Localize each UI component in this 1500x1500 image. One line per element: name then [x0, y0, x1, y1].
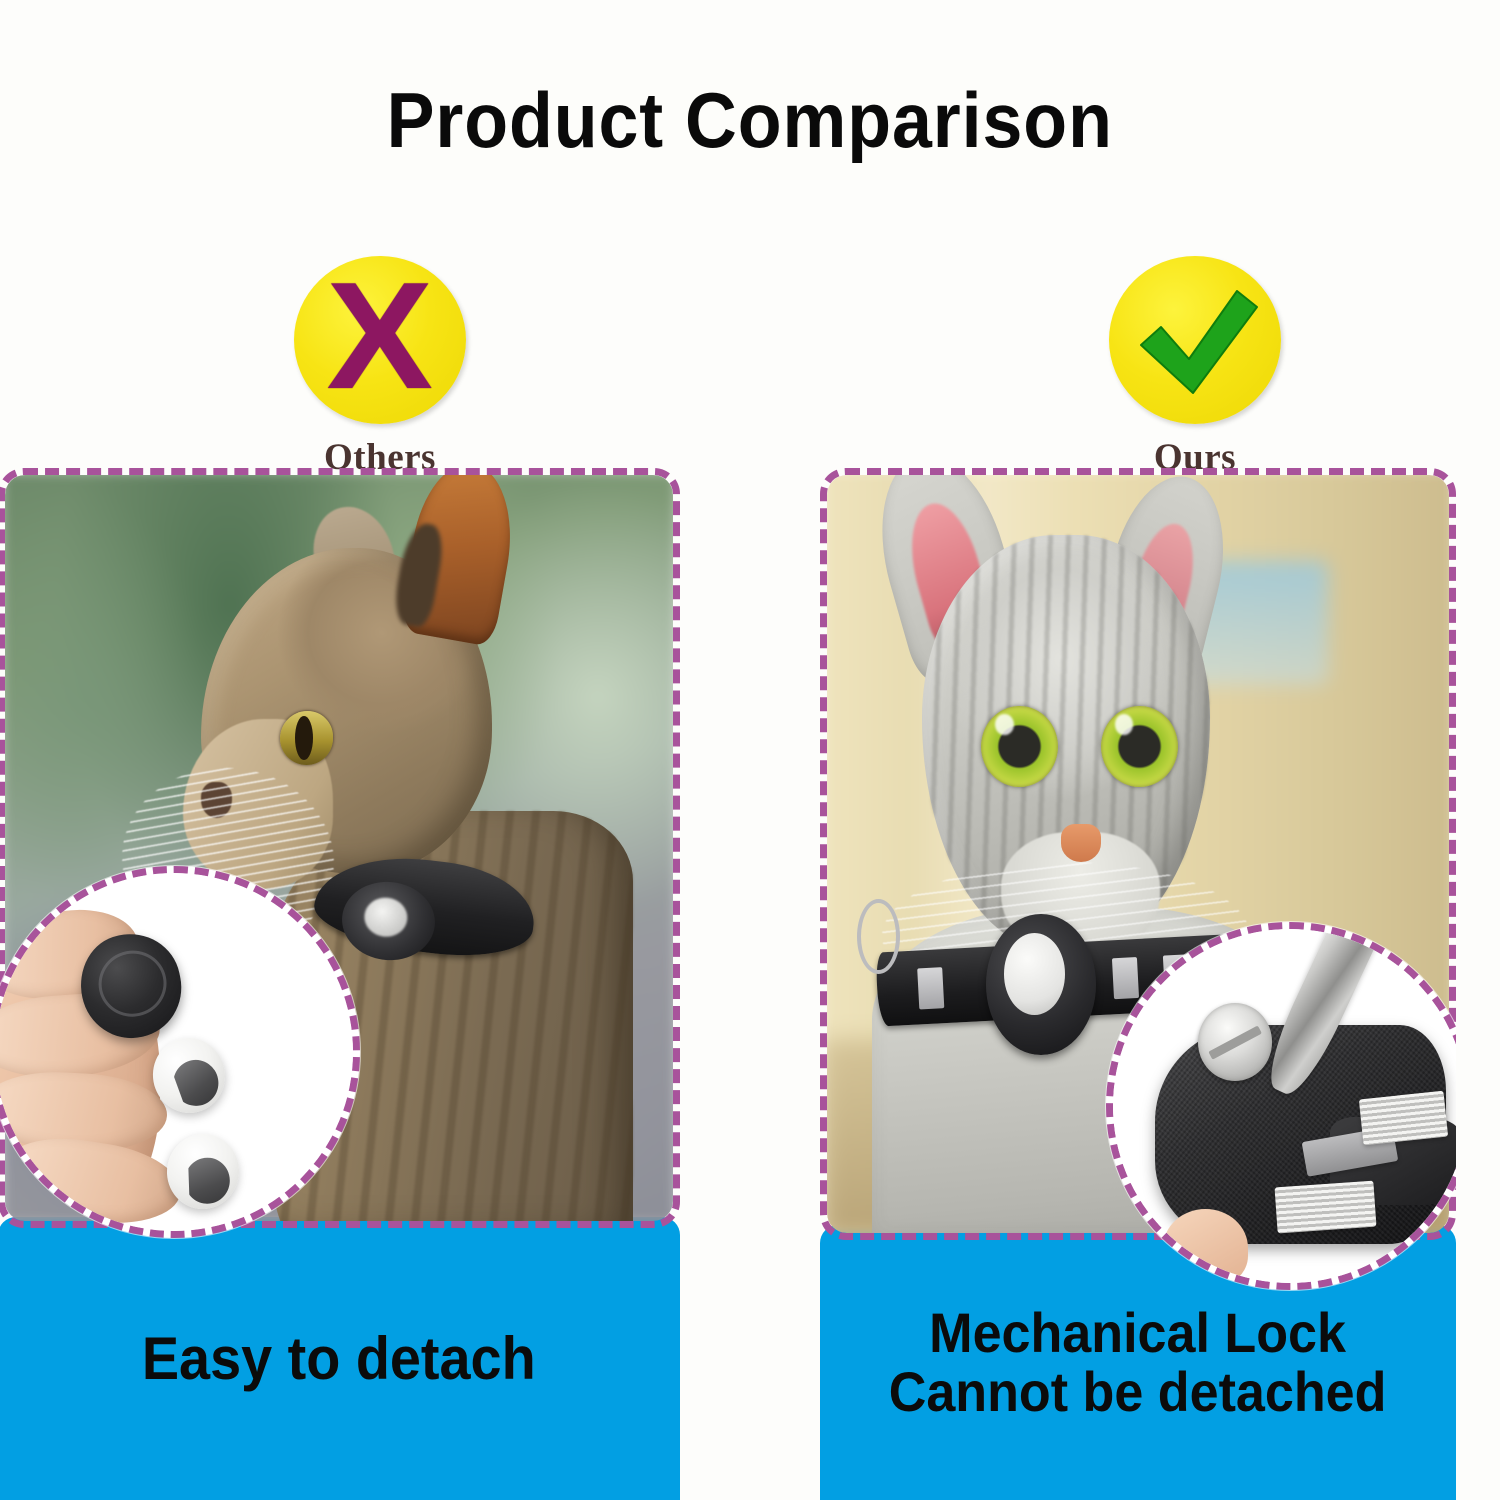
reflective-strap-lower [1274, 1180, 1376, 1233]
title-banner: Product Comparison [0, 60, 1500, 180]
inset-photo-detach [0, 873, 353, 1231]
cat-eye [280, 711, 333, 764]
collar-d-ring [857, 899, 900, 974]
comparison-panel-ours: Mechanical Lock Cannot be detached [820, 468, 1456, 1500]
cross-x-glyph: X [327, 260, 433, 412]
badge-column-others: X Others [230, 256, 530, 479]
detail-inset-others [0, 866, 360, 1238]
detail-inset-ours [1106, 922, 1456, 1290]
cross-x-icon: X [294, 256, 466, 424]
fingertip [1163, 1209, 1248, 1283]
check-mark-glyph [1131, 283, 1263, 401]
cat-eye-left [981, 706, 1058, 788]
page-title: Product Comparison [387, 75, 1113, 166]
cat-eye-right [1101, 706, 1178, 788]
caption-banner-others: Easy to detach [0, 1217, 680, 1500]
cat-nose [1061, 824, 1101, 861]
lock-screw [1198, 1003, 1272, 1081]
reflective-strap-upper [1359, 1091, 1448, 1146]
caption-text-others: Easy to detach [142, 1327, 536, 1390]
inset-photo-mechanical-lock [1113, 929, 1456, 1283]
fingernail [5, 925, 31, 939]
airtag-holder [986, 914, 1095, 1055]
caption-text-ours: Mechanical Lock Cannot be detached [889, 1304, 1387, 1422]
badge-column-ours: Ours [1045, 256, 1345, 479]
check-mark-icon [1109, 256, 1281, 424]
comparison-panel-others: Easy to detach [0, 468, 680, 1500]
reflective-strip [916, 967, 944, 1010]
